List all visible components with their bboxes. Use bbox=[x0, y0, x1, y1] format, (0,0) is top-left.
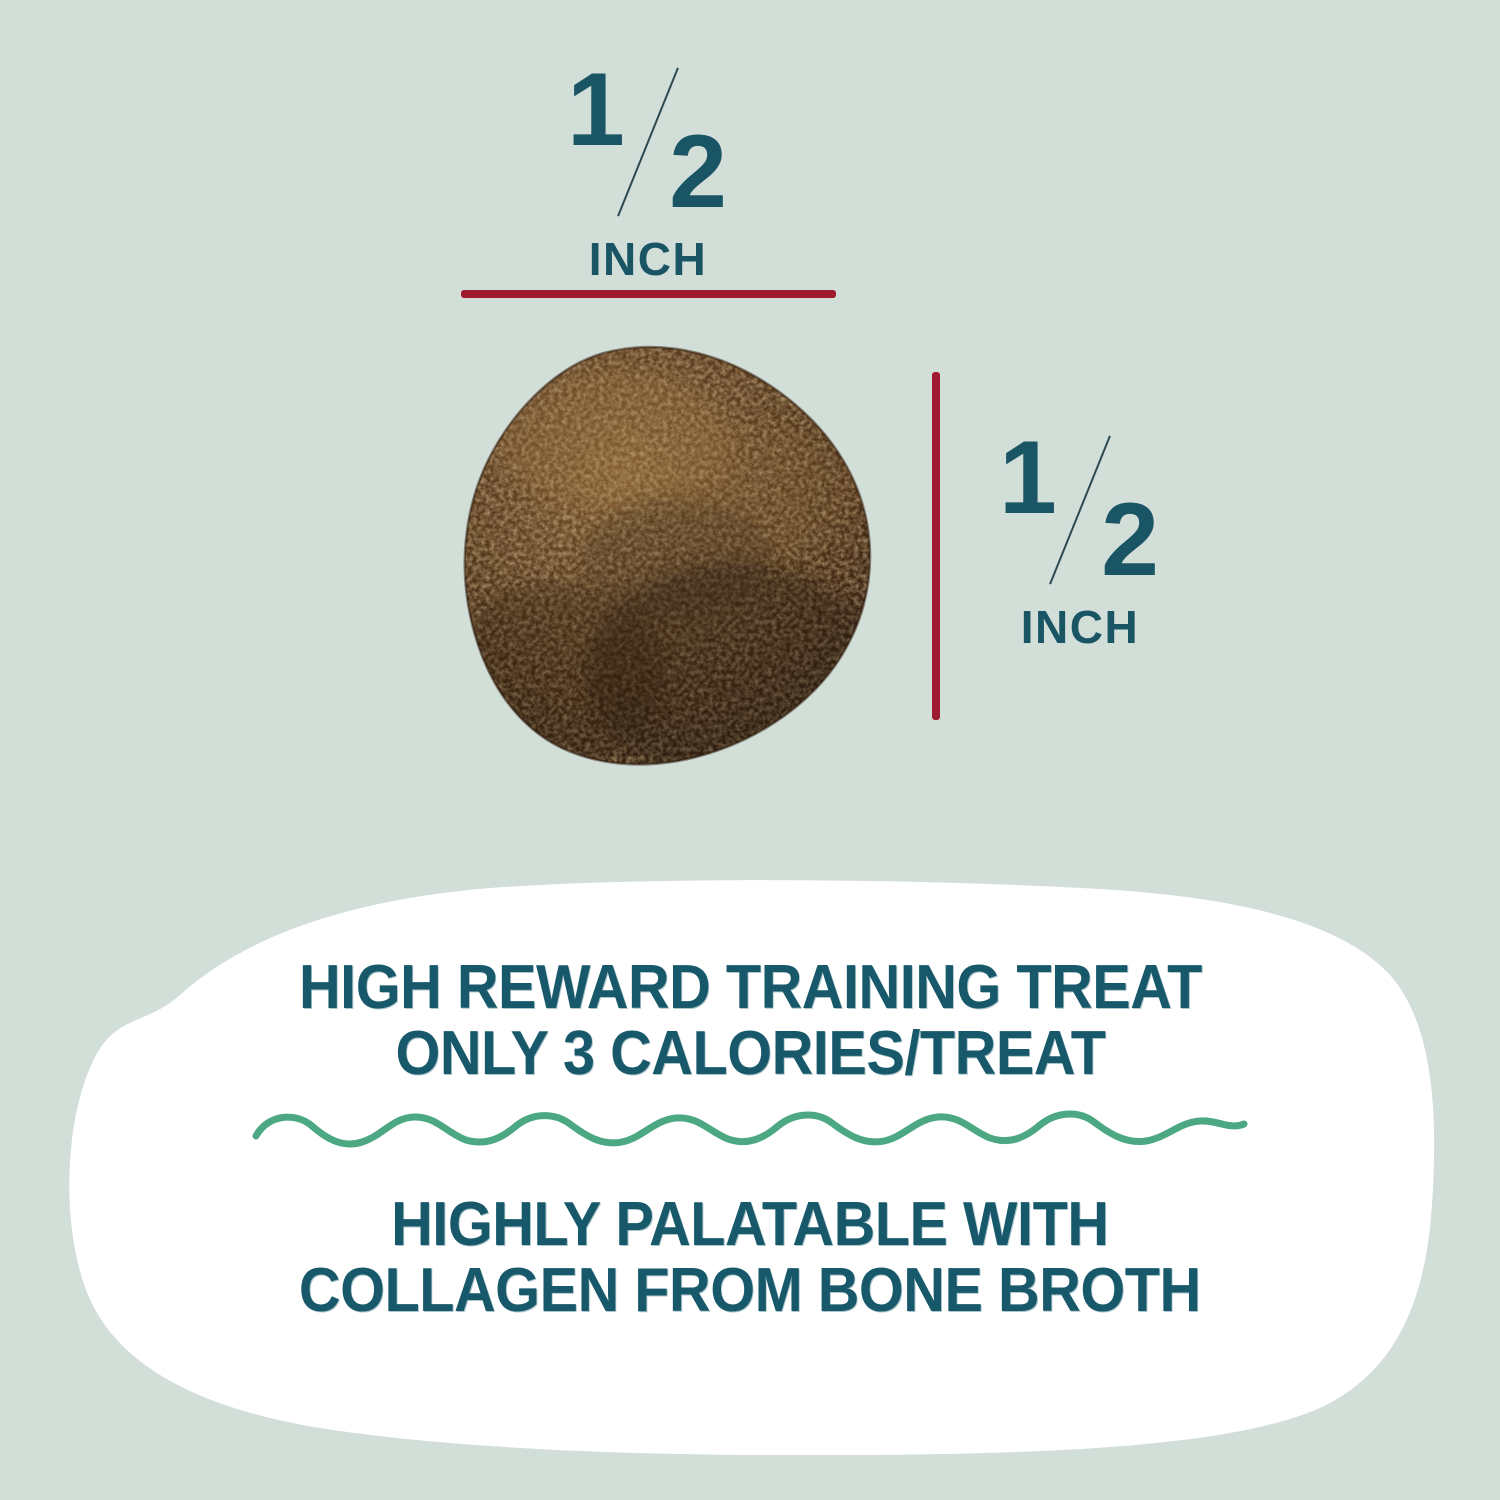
headline-primary: HIGH REWARD TRAINING TREAT ONLY 3 CALORI… bbox=[299, 955, 1202, 1086]
fraction-one-half-right: 1 2 bbox=[985, 424, 1175, 594]
fraction-one-half-top: 1 2 bbox=[553, 56, 743, 226]
infographic-canvas: 1 2 INCH 1 2 INCH bbox=[0, 0, 1500, 1500]
headline-primary-line-1: HIGH REWARD TRAINING TREAT bbox=[299, 955, 1202, 1021]
measurement-height-callout: 1 2 INCH bbox=[985, 424, 1175, 654]
ruler-line-vertical bbox=[932, 372, 940, 720]
measurement-unit-label: INCH bbox=[985, 600, 1175, 654]
measurement-unit-label: INCH bbox=[553, 232, 743, 286]
fraction-numerator: 1 bbox=[567, 58, 623, 162]
headline-secondary-line-2: COLLAGEN FROM BONE BROTH bbox=[299, 1258, 1201, 1324]
headline-secondary: HIGHLY PALATABLE WITH COLLAGEN FROM BONE… bbox=[299, 1192, 1201, 1323]
measurement-width-callout: 1 2 INCH bbox=[553, 56, 743, 286]
fraction-numerator: 1 bbox=[999, 426, 1055, 530]
ruler-line-horizontal bbox=[461, 290, 836, 298]
callout-card: HIGH REWARD TRAINING TREAT ONLY 3 CALORI… bbox=[60, 875, 1440, 1455]
fraction-denominator: 2 bbox=[1101, 488, 1157, 592]
dog-treat-kibble-photo bbox=[436, 343, 884, 775]
headline-primary-line-2: ONLY 3 CALORIES/TREAT bbox=[299, 1021, 1202, 1087]
headline-secondary-line-1: HIGHLY PALATABLE WITH bbox=[299, 1192, 1201, 1258]
callout-text-stack: HIGH REWARD TRAINING TREAT ONLY 3 CALORI… bbox=[60, 875, 1440, 1455]
fraction-denominator: 2 bbox=[669, 120, 725, 224]
wavy-green-divider bbox=[250, 1108, 1250, 1152]
